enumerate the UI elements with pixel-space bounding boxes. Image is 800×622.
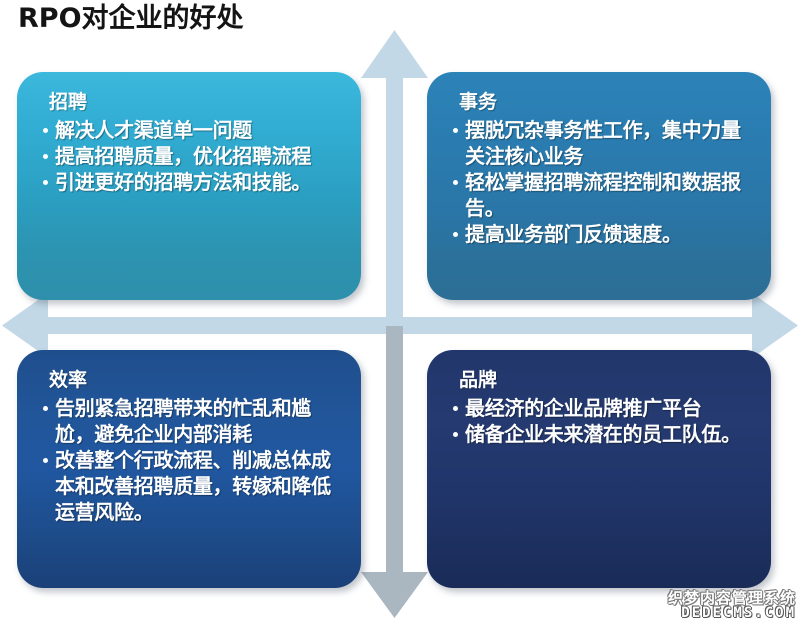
quadrant-brand-title: 品牌 [459,368,757,393]
quadrant-affairs-content: 事务 摆脱冗杂事务性工作，集中力量关注核心业务 轻松掌握招聘流程控制和数据报告。… [427,72,771,300]
quadrant-recruit[interactable]: 招聘 解决人才渠道单一问题 提高招聘质量，优化招聘流程 引进更好的招聘方法和技能… [17,72,361,300]
quadrant-affairs-title: 事务 [459,90,757,115]
quadrant-efficiency-content: 效率 告别紧急招聘带来的忙乱和尴尬，避免企业内部消耗 改善整个行政流程、削减总体… [17,350,361,588]
quadrant-recruit-content: 招聘 解决人才渠道单一问题 提高招聘质量，优化招聘流程 引进更好的招聘方法和技能… [17,72,361,300]
quadrant-brand-bullets: 最经济的企业品牌推广平台 储备企业未来潜在的员工队伍。 [441,395,757,447]
quadrant-affairs[interactable]: 事务 摆脱冗杂事务性工作，集中力量关注核心业务 轻松掌握招聘流程控制和数据报告。… [427,72,771,300]
quadrant-efficiency-bullets: 告别紧急招聘带来的忙乱和尴尬，避免企业内部消耗 改善整个行政流程、削减总体成本和… [31,395,347,525]
list-item: 提高业务部门反馈速度。 [451,221,753,247]
list-item: 告别紧急招聘带来的忙乱和尴尬，避免企业内部消耗 [41,395,343,447]
quadrant-brand[interactable]: 品牌 最经济的企业品牌推广平台 储备企业未来潜在的员工队伍。 [427,350,771,588]
arrow-up-icon [361,30,428,326]
quadrant-recruit-title: 招聘 [49,90,347,115]
arrow-right-icon [394,293,798,358]
quadrant-brand-content: 品牌 最经济的企业品牌推广平台 储备企业未来潜在的员工队伍。 [427,350,771,588]
quadrant-efficiency[interactable]: 效率 告别紧急招聘带来的忙乱和尴尬，避免企业内部消耗 改善整个行政流程、削减总体… [17,350,361,588]
arrow-down-icon [361,326,428,618]
list-item: 摆脱冗杂事务性工作，集中力量关注核心业务 [451,117,753,169]
list-item: 轻松掌握招聘流程控制和数据报告。 [451,169,753,221]
quadrant-efficiency-title: 效率 [49,368,347,393]
list-item: 储备企业未来潜在的员工队伍。 [451,421,753,447]
list-item: 提高招聘质量，优化招聘流程 [41,143,343,169]
quadrant-affairs-bullets: 摆脱冗杂事务性工作，集中力量关注核心业务 轻松掌握招聘流程控制和数据报告。 提高… [441,117,757,247]
arrow-left-icon [2,293,394,358]
slide-canvas: RPO对企业的好处 招聘 解决人才渠道单一问题 提高招聘质量，优化招聘流程 [0,0,800,622]
list-item: 改善整个行政流程、削减总体成本和改善招聘质量，转嫁和降低运营风险。 [41,447,343,525]
list-item: 最经济的企业品牌推广平台 [451,395,753,421]
quadrant-recruit-bullets: 解决人才渠道单一问题 提高招聘质量，优化招聘流程 引进更好的招聘方法和技能。 [31,117,347,195]
list-item: 引进更好的招聘方法和技能。 [41,169,343,195]
list-item: 解决人才渠道单一问题 [41,117,343,143]
